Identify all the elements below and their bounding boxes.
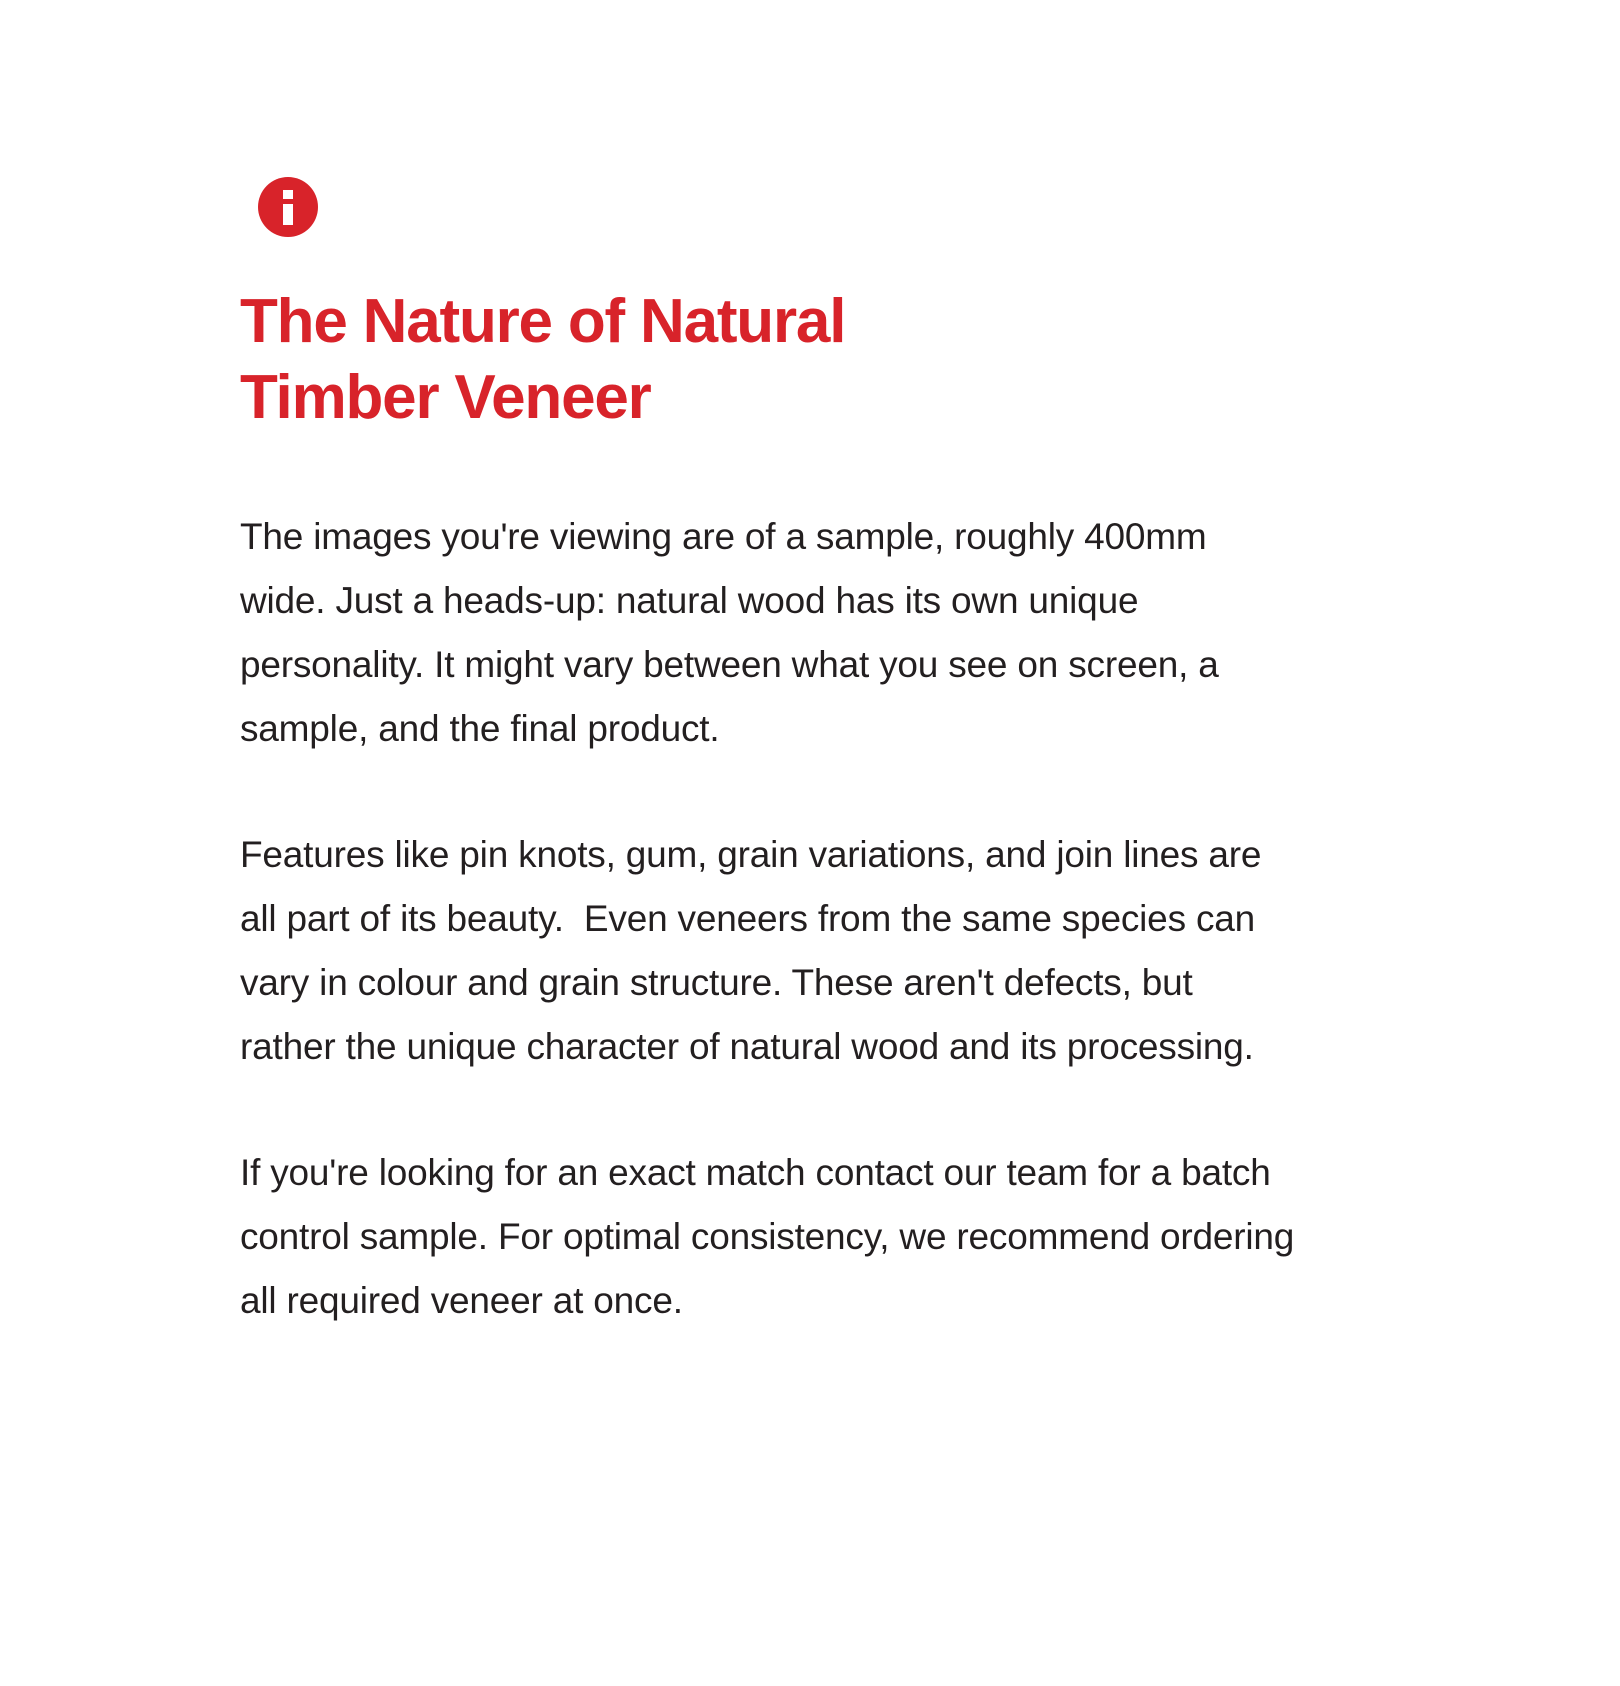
paragraph-sample-disclaimer: The images you're viewing are of a sampl… (240, 505, 1295, 761)
info-icon (258, 177, 318, 237)
info-panel: The Nature of Natural Timber Veneer The … (0, 0, 1620, 1686)
paragraph-exact-match-advice: If you're looking for an exact match con… (240, 1141, 1295, 1333)
page-title: The Nature of Natural Timber Veneer (240, 284, 1140, 436)
body-copy: The images you're viewing are of a sampl… (240, 505, 1295, 1333)
paragraph-natural-features: Features like pin knots, gum, grain vari… (240, 823, 1295, 1079)
